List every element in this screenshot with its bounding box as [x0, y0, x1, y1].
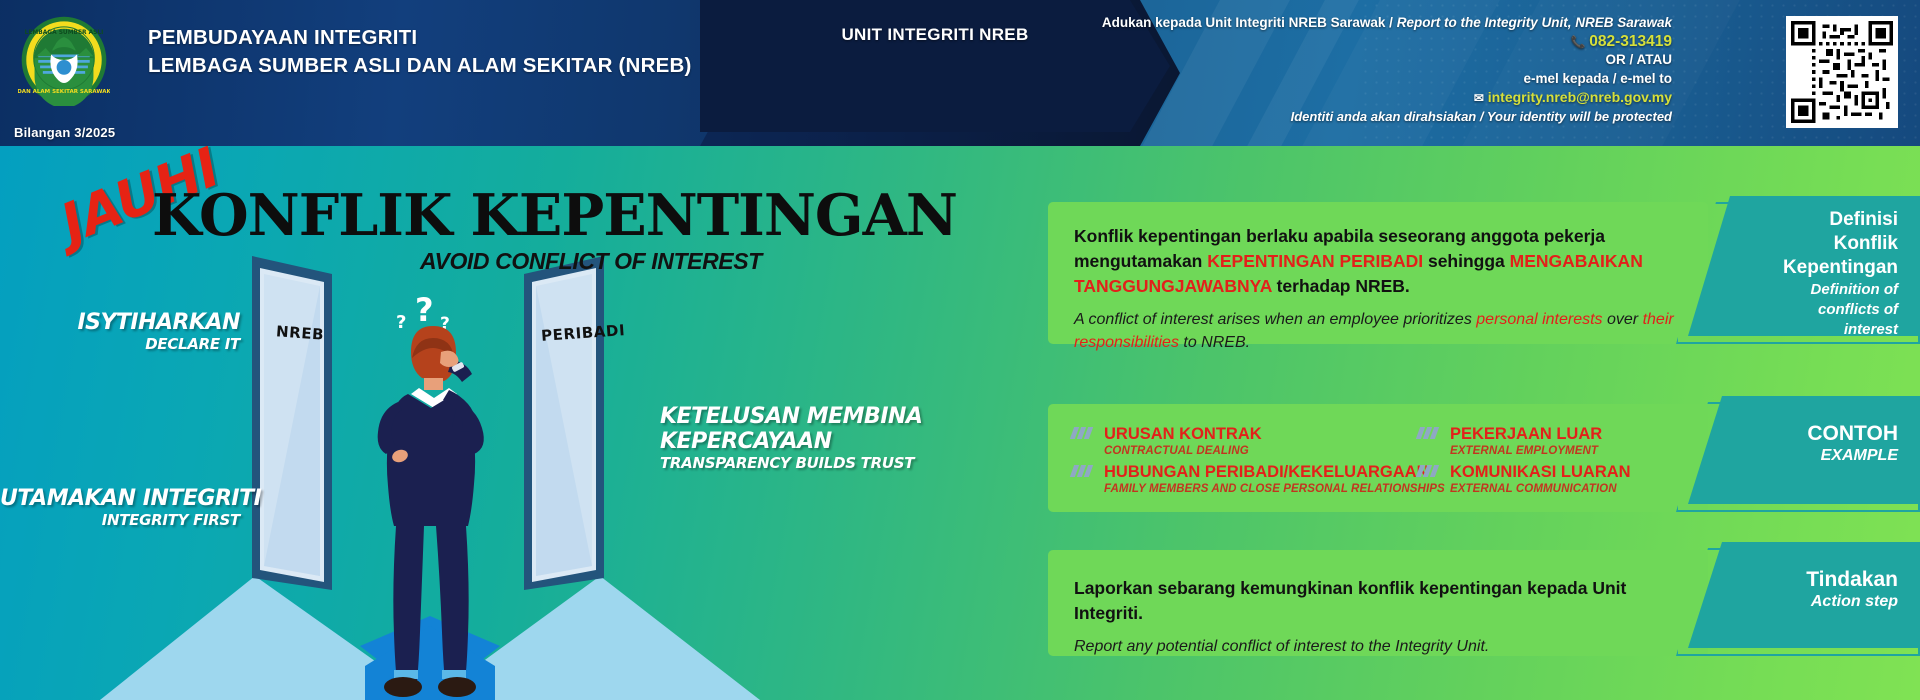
svg-text:LEMBAGA SUMBER ASLI: LEMBAGA SUMBER ASLI — [25, 30, 104, 36]
svg-text:?: ? — [396, 312, 406, 333]
label-declare-it-en: DECLARE IT — [0, 335, 240, 353]
label-transparency: KETELUSAN MEMBINA KEPERCAYAAN TRANSPAREN… — [660, 404, 922, 472]
or-line: OR / ATAU — [1022, 51, 1672, 70]
tab-definition-ms-3: Kepentingan — [1702, 256, 1898, 280]
org-line-2: LEMBAGA SUMBER ASLI DAN ALAM SEKITAR (NR… — [148, 52, 691, 80]
label-declare-it-ms: ISYTIHARKAN — [0, 310, 240, 335]
report-line: Adukan kepada Unit Integriti NREB Sarawa… — [1022, 14, 1672, 33]
tab-examples-en: EXAMPLE — [1702, 446, 1898, 466]
report-separator: / — [1389, 15, 1393, 30]
tab-definition-en-2: conflicts of — [1702, 300, 1898, 320]
example-1-ms: URUSAN KONTRAK — [1104, 424, 1262, 444]
example-1-en: CONTRACTUAL DEALING — [1104, 444, 1262, 459]
definition-ms-b: sehingga — [1423, 251, 1510, 271]
definition-ms-red1: KEPENTINGAN PERIBADI — [1207, 251, 1423, 271]
quote-mark-icon — [1072, 465, 1098, 477]
example-4-ms: KOMUNIKASI LUARAN — [1450, 462, 1631, 482]
definition-ms: Konflik kepentingan berlaku apabila sese… — [1074, 224, 1682, 299]
example-2-en: EXTERNAL EMPLOYMENT — [1450, 444, 1602, 459]
qr-code[interactable] — [1786, 16, 1898, 128]
email-line: ✉ integrity.nreb@nreb.gov.my — [1022, 88, 1672, 108]
tab-examples-ms: CONTOH — [1702, 422, 1898, 446]
door-peribadi — [524, 256, 604, 590]
email-label: e-mel kepada / e-mel to — [1022, 70, 1672, 89]
infographic-poster: LEMBAGA SUMBER ASLI DAN ALAM SEKITAR SAR… — [0, 0, 1920, 700]
tab-definition-en-1: Definition of — [1702, 280, 1898, 300]
issue-number: Bilangan 3/2025 — [14, 125, 115, 140]
example-item-2: PEKERJAAN LUAR EXTERNAL EMPLOYMENT — [1418, 424, 1602, 459]
svg-text:DAN ALAM SEKITAR SARAWAK: DAN ALAM SEKITAR SARAWAK — [18, 89, 110, 95]
report-en: Report to the Integrity Unit, NREB Saraw… — [1397, 15, 1672, 30]
tab-action-ms: Tindakan — [1702, 568, 1898, 592]
svg-text:?: ? — [415, 291, 434, 329]
definition-en-c: to NREB. — [1179, 334, 1250, 351]
tab-action-en: Action step — [1702, 592, 1898, 612]
poster-body: ? ? ? — [0, 146, 1920, 700]
quote-mark-icon — [1418, 427, 1444, 439]
example-2-ms: PEKERJAAN LUAR — [1450, 424, 1602, 444]
email-address[interactable]: integrity.nreb@nreb.gov.my — [1488, 89, 1672, 105]
report-ms: Adukan kepada Unit Integriti NREB Sarawa… — [1102, 15, 1386, 30]
example-item-4: KOMUNIKASI LUARAN EXTERNAL COMMUNICATION — [1418, 462, 1631, 497]
hero-subtitle: AVOID CONFLICT OF INTEREST — [420, 248, 762, 275]
definition-en-a: A conflict of interest arises when an em… — [1074, 311, 1476, 328]
example-3-en: FAMILY MEMBERS AND CLOSE PERSONAL RELATI… — [1104, 482, 1445, 497]
org-titles: PEMBUDAYAAN INTEGRITI LEMBAGA SUMBER ASL… — [148, 24, 691, 80]
phone-line: 📞 082-313419 — [1022, 33, 1672, 52]
label-transparency-ms1: KETELUSAN MEMBINA — [660, 404, 922, 429]
card-examples: URUSAN KONTRAK CONTRACTUAL DEALING PEKER… — [1048, 404, 1708, 512]
definition-en-b: over — [1603, 311, 1643, 328]
quote-mark-icon — [1418, 465, 1444, 477]
label-declare-it: ISYTIHARKAN DECLARE IT — [0, 310, 240, 353]
definition-en-red1: personal interests — [1476, 311, 1602, 328]
label-integrity-first-ms: UTAMAKAN INTEGRITI — [0, 486, 240, 511]
tab-definition-ms-1: Definisi — [1702, 208, 1898, 232]
example-3-ms: HUBUNGAN PERIBADI/KEKELUARGAAN — [1104, 462, 1445, 482]
privacy-note: Identiti anda akan dirahsiakan / Your id… — [1022, 108, 1672, 127]
nreb-logo-icon: LEMBAGA SUMBER ASLI DAN ALAM SEKITAR SAR… — [18, 14, 110, 106]
definition-en: A conflict of interest arises when an em… — [1074, 308, 1682, 354]
label-transparency-ms2: KEPERCAYAAN — [660, 429, 922, 454]
quote-mark-icon — [1072, 427, 1098, 439]
envelope-icon: ✉ — [1474, 91, 1484, 105]
card-definition: Konflik kepentingan berlaku apabila sese… — [1048, 202, 1708, 344]
card-action: Laporkan sebarang kemungkinan konflik ke… — [1048, 550, 1708, 656]
door-nreb — [252, 256, 332, 590]
example-4-en: EXTERNAL COMMUNICATION — [1450, 482, 1631, 497]
tab-definition-ms-2: Konflik — [1702, 232, 1898, 256]
label-transparency-en: TRANSPARENCY BUILDS TRUST — [660, 454, 922, 472]
definition-ms-c: terhadap NREB. — [1272, 276, 1410, 296]
action-en: Report any potential conflict of interes… — [1074, 635, 1682, 658]
page-header: LEMBAGA SUMBER ASLI DAN ALAM SEKITAR SAR… — [0, 0, 1920, 146]
label-integrity-first-en: INTEGRITY FIRST — [0, 511, 240, 529]
hero-title: KONFLIK KEPENTINGAN — [152, 182, 957, 249]
example-item-3: HUBUNGAN PERIBADI/KEKELUARGAAN FAMILY ME… — [1072, 462, 1445, 497]
door-label-nreb: NREB — [275, 322, 324, 343]
phone-number[interactable]: 082-313419 — [1589, 33, 1672, 50]
phone-icon: 📞 — [1571, 35, 1586, 49]
org-line-1: PEMBUDAYAAN INTEGRITI — [148, 24, 691, 52]
example-item-1: URUSAN KONTRAK CONTRACTUAL DEALING — [1072, 424, 1262, 459]
label-integrity-first: UTAMAKAN INTEGRITI INTEGRITY FIRST — [0, 486, 240, 529]
tab-examples[interactable]: CONTOH EXAMPLE — [1688, 396, 1920, 504]
tab-action[interactable]: Tindakan Action step — [1688, 542, 1920, 648]
action-ms: Laporkan sebarang kemungkinan konflik ke… — [1074, 576, 1682, 626]
contact-block: Adukan kepada Unit Integriti NREB Sarawa… — [1022, 14, 1672, 126]
